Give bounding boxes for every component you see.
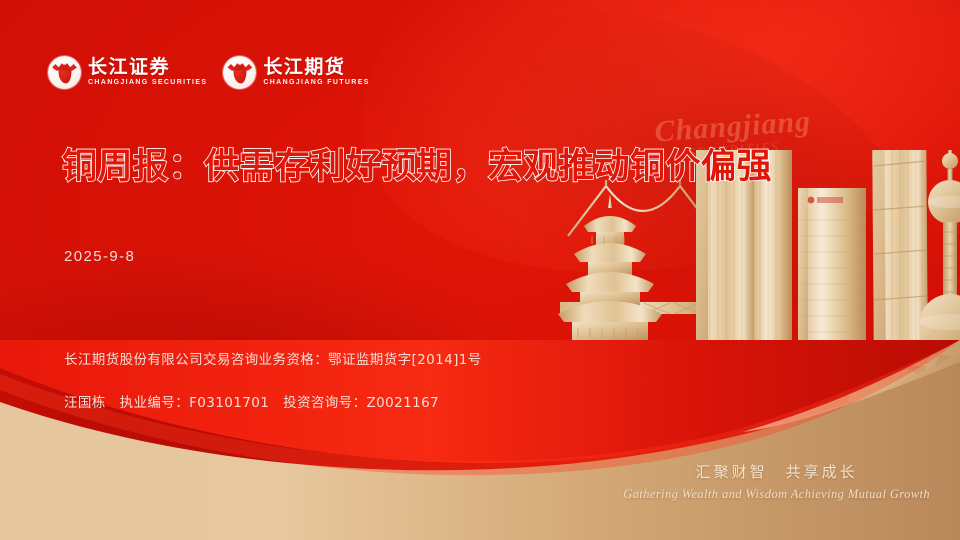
license-disclaimer: 长江期货股份有限公司交易咨询业务资格：鄂证监期货字[2014]1号 <box>64 348 482 368</box>
watermark-script-text: Changjiang <box>654 107 812 148</box>
analyst-credentials: 汪国栋 执业编号：F03101701 投资咨询号：Z0021167 <box>64 391 439 411</box>
logo-futures-cn: 长江期货 <box>263 57 369 77</box>
bottom-wave-decoration <box>0 340 960 540</box>
changjiang-flame-logo-icon <box>48 56 81 89</box>
logo-changjiang-securities: 长江证券 CHANGJIANG SECURITIES <box>48 56 207 89</box>
logo-futures-en: CHANGJIANG FUTURES <box>263 78 369 88</box>
tall-skyscraper <box>872 150 928 366</box>
report-date: 2025-9-8 <box>64 248 135 265</box>
header-logos: 长江证券 CHANGJIANG SECURITIES 长江期货 CHANGJIA… <box>48 56 370 89</box>
logo-securities-text: 长江证券 CHANGJIANG SECURITIES <box>88 57 207 88</box>
logo-securities-en: CHANGJIANG SECURITIES <box>88 78 207 88</box>
building-logo-icon <box>808 197 815 204</box>
page-title: 铜周报：供需存利好预期，宏观推动铜价偏强 <box>62 145 772 189</box>
logo-securities-cn: 长江证券 <box>88 57 207 77</box>
changjiang-flame-logo-icon <box>223 56 256 89</box>
logo-changjiang-futures: 长江期货 CHANGJIANG FUTURES <box>223 56 369 89</box>
logo-futures-text: 长江期货 CHANGJIANG FUTURES <box>263 57 369 88</box>
slide-root: 长江证券 CHANGJIANG SECURITIES 长江期货 CHANGJIA… <box>0 0 960 540</box>
